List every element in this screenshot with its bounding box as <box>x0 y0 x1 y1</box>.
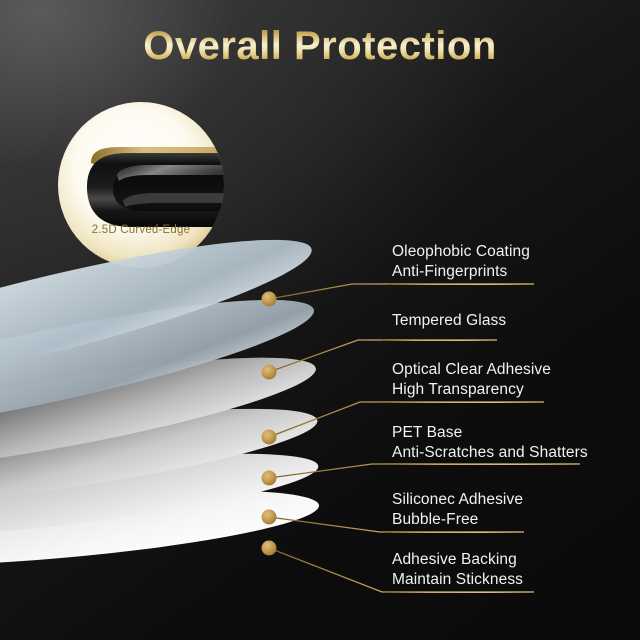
callout-pet-base: PET Base Anti-Scratches and Shatters <box>392 423 588 463</box>
callout-tempered-glass: Tempered Glass <box>392 311 506 331</box>
callout-siliconec-adhesive: Siliconec Adhesive Bubble-Free <box>392 490 523 530</box>
product-infographic: Overall Protection <box>0 0 640 640</box>
callout-oleophobic-coating: Oleophobic Coating Anti-Fingerprints <box>392 242 530 282</box>
callout-rule-siliconec <box>384 532 524 533</box>
callout-line-1: Adhesive Backing <box>392 550 523 570</box>
callout-line-2: Maintain Stickness <box>392 570 523 590</box>
callout-line-1: Siliconec Adhesive <box>392 490 523 510</box>
callout-optical-clear-adhesive: Optical Clear Adhesive High Transparency <box>392 360 551 400</box>
callout-line-1: Optical Clear Adhesive <box>392 360 551 380</box>
callout-line-1: PET Base <box>392 423 588 443</box>
callout-rule-pet-base <box>386 464 580 465</box>
layer-stack-diagram <box>0 0 640 640</box>
callout-rule-tempered-glass <box>382 340 497 341</box>
callout-line-2: Bubble-Free <box>392 510 523 530</box>
callout-rule-oleophobic <box>387 284 534 285</box>
callout-line-1: Tempered Glass <box>392 311 506 331</box>
callout-line-2: Anti-Scratches and Shatters <box>392 443 588 463</box>
callout-line-1: Oleophobic Coating <box>392 242 530 262</box>
callout-adhesive-backing: Adhesive Backing Maintain Stickness <box>392 550 523 590</box>
callout-line-2: Anti-Fingerprints <box>392 262 530 282</box>
callout-rule-optical-adhesive <box>382 402 544 403</box>
callout-line-2: High Transparency <box>392 380 551 400</box>
callout-rule-adhesive-backing <box>384 592 534 593</box>
